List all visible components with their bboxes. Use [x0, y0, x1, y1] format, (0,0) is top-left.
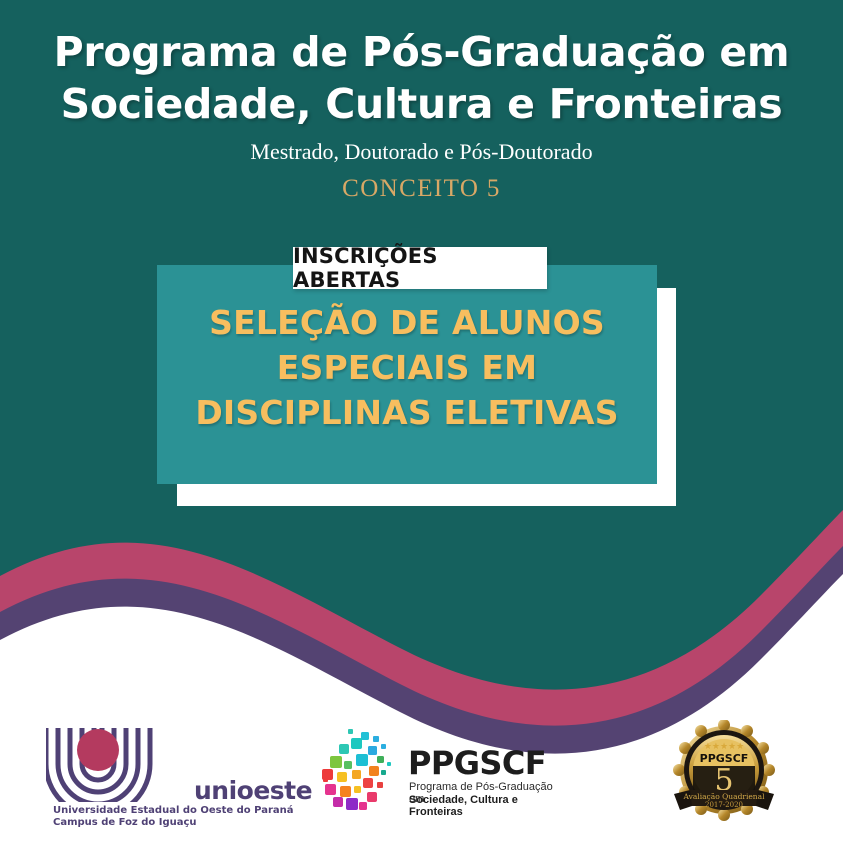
card-headline: SELEÇÃO DE ALUNOS ESPECIAIS EM DISCIPLIN… [157, 300, 657, 435]
medal-banner-line-2: 2017-2020 [705, 801, 743, 809]
svg-text:★★★★★: ★★★★★ [704, 742, 744, 752]
ppgscf-subtitle-line-2: Sociedade, Cultura e Fronteiras [409, 794, 563, 818]
status-badge: INSCRIÇÕES ABERTAS [293, 247, 547, 289]
logo-medal: ★★★★★ PPGSCF 5 Avaliação Quadrienal 2017… [668, 720, 788, 835]
logo-unioeste: unioeste Universidade Estadual do Oeste … [46, 724, 296, 829]
ppgscf-mosaic-icon [313, 728, 399, 814]
logo-ppgscf: PPGSCF Programa de Pós-Graduação em Soci… [313, 728, 563, 828]
poster-canvas: Programa de Pós-Graduação em Sociedade, … [0, 0, 843, 843]
unioeste-subtitle-line-1: Universidade Estadual do Oeste do Paraná [53, 805, 299, 817]
card-headline-line-3: DISCIPLINAS ELETIVAS [157, 390, 657, 435]
card-headline-line-2: ESPECIAIS EM [157, 345, 657, 390]
gold-medal-seal-icon: ★★★★★ PPGSCF 5 Avaliação Quadrienal 2017… [668, 720, 780, 832]
medal-banner-line-1: Avaliação Quadrienal [682, 792, 765, 801]
unioeste-subtitle: Universidade Estadual do Oeste do Paraná… [53, 805, 299, 829]
card-headline-line-1: SELEÇÃO DE ALUNOS [157, 300, 657, 345]
unioeste-subtitle-line-2: Campus de Foz do Iguaçu [53, 817, 299, 829]
ppgscf-wordmark: PPGSCF [408, 744, 546, 782]
footer-logo-strip: unioeste Universidade Estadual do Oeste … [0, 710, 843, 843]
unioeste-wordmark: unioeste [194, 776, 312, 805]
unioeste-arcs-icon [46, 724, 196, 802]
